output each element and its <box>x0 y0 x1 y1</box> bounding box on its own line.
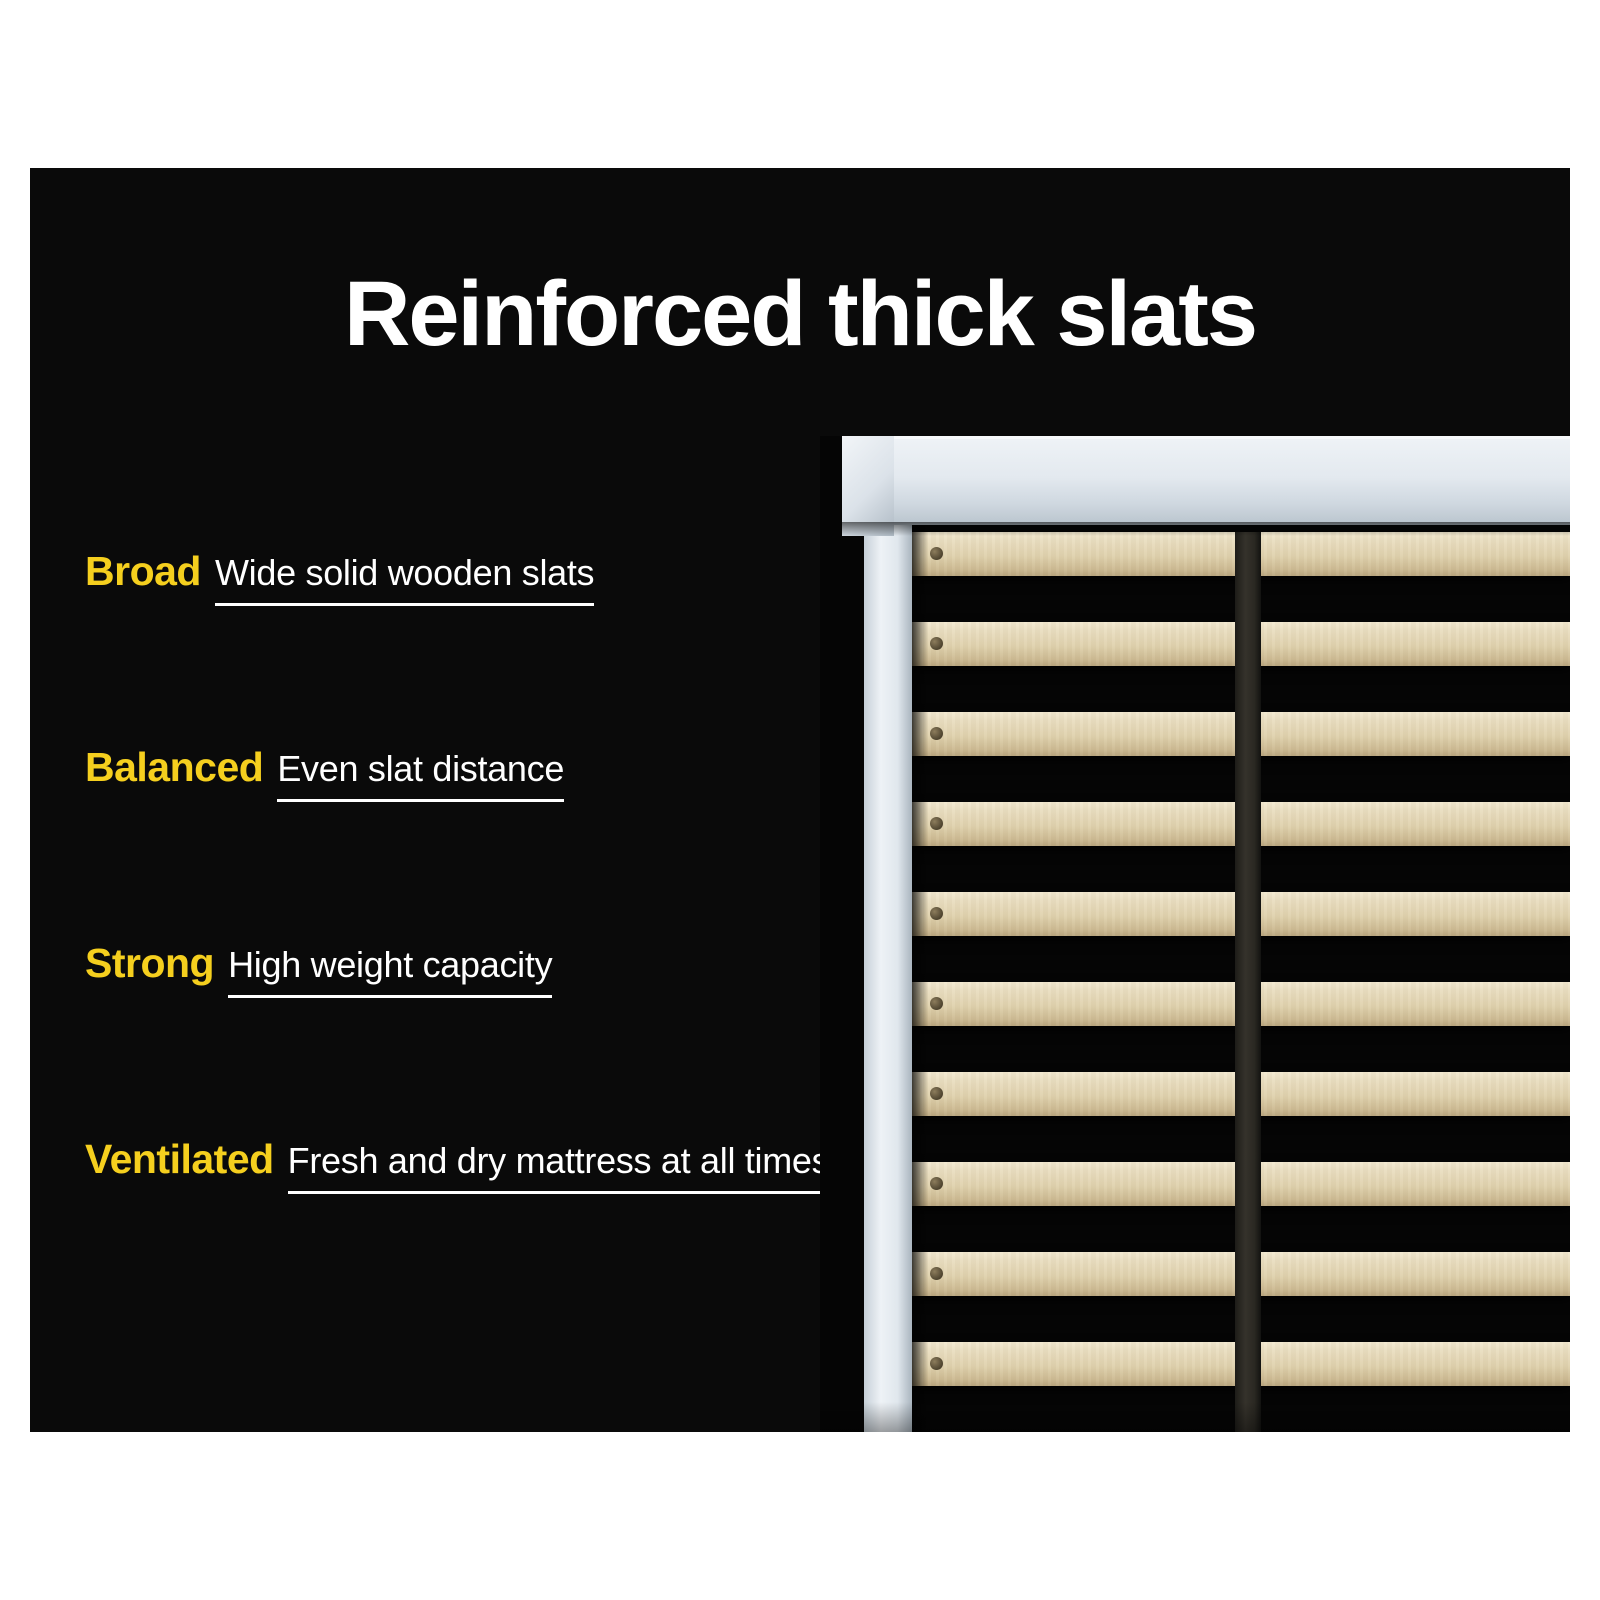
feature-term: Balanced <box>85 744 263 791</box>
feature-term: Broad <box>85 548 201 595</box>
screw-icon <box>930 817 943 830</box>
feature-description: Wide solid wooden slats <box>215 552 594 593</box>
frame-top-rail-shadow <box>842 522 1570 536</box>
frame-top-rail <box>842 436 1570 525</box>
feature-underline: Wide solid wooden slats <box>215 552 594 606</box>
feature-description: Fresh and dry mattress at all times <box>288 1140 830 1181</box>
screw-icon <box>930 1267 943 1280</box>
feature-term: Strong <box>85 940 214 987</box>
feature-item-strong: Strong High weight capacity <box>85 940 552 998</box>
photo-bottom-fade <box>820 1402 1570 1432</box>
screw-icon <box>930 547 943 560</box>
screw-icon <box>930 1087 943 1100</box>
frame-side-rail <box>864 522 912 1432</box>
frame-side-rail-shadow <box>912 522 928 1432</box>
page-root: Reinforced thick slats Broad Wide solid … <box>0 0 1600 1600</box>
screw-icon <box>930 1177 943 1190</box>
feature-description: Even slat distance <box>277 748 564 789</box>
screw-icon <box>930 727 943 740</box>
screw-icon <box>930 997 943 1010</box>
feature-item-ventilated: Ventilated Fresh and dry mattress at all… <box>85 1136 829 1194</box>
screw-icon <box>930 907 943 920</box>
feature-term: Ventilated <box>85 1136 274 1183</box>
promo-panel: Reinforced thick slats Broad Wide solid … <box>30 168 1570 1432</box>
page-title: Reinforced thick slats <box>30 268 1570 360</box>
feature-underline: Fresh and dry mattress at all times <box>288 1140 830 1194</box>
feature-description: High weight capacity <box>228 944 552 985</box>
bed-base-slats-photo <box>820 436 1570 1432</box>
screw-icon <box>930 637 943 650</box>
feature-item-broad: Broad Wide solid wooden slats <box>85 548 594 606</box>
center-strap <box>1235 532 1261 1432</box>
feature-item-balanced: Balanced Even slat distance <box>85 744 564 802</box>
frame-corner <box>842 436 894 536</box>
screw-icon <box>930 1357 943 1370</box>
feature-underline: High weight capacity <box>228 944 552 998</box>
feature-underline: Even slat distance <box>277 748 564 802</box>
